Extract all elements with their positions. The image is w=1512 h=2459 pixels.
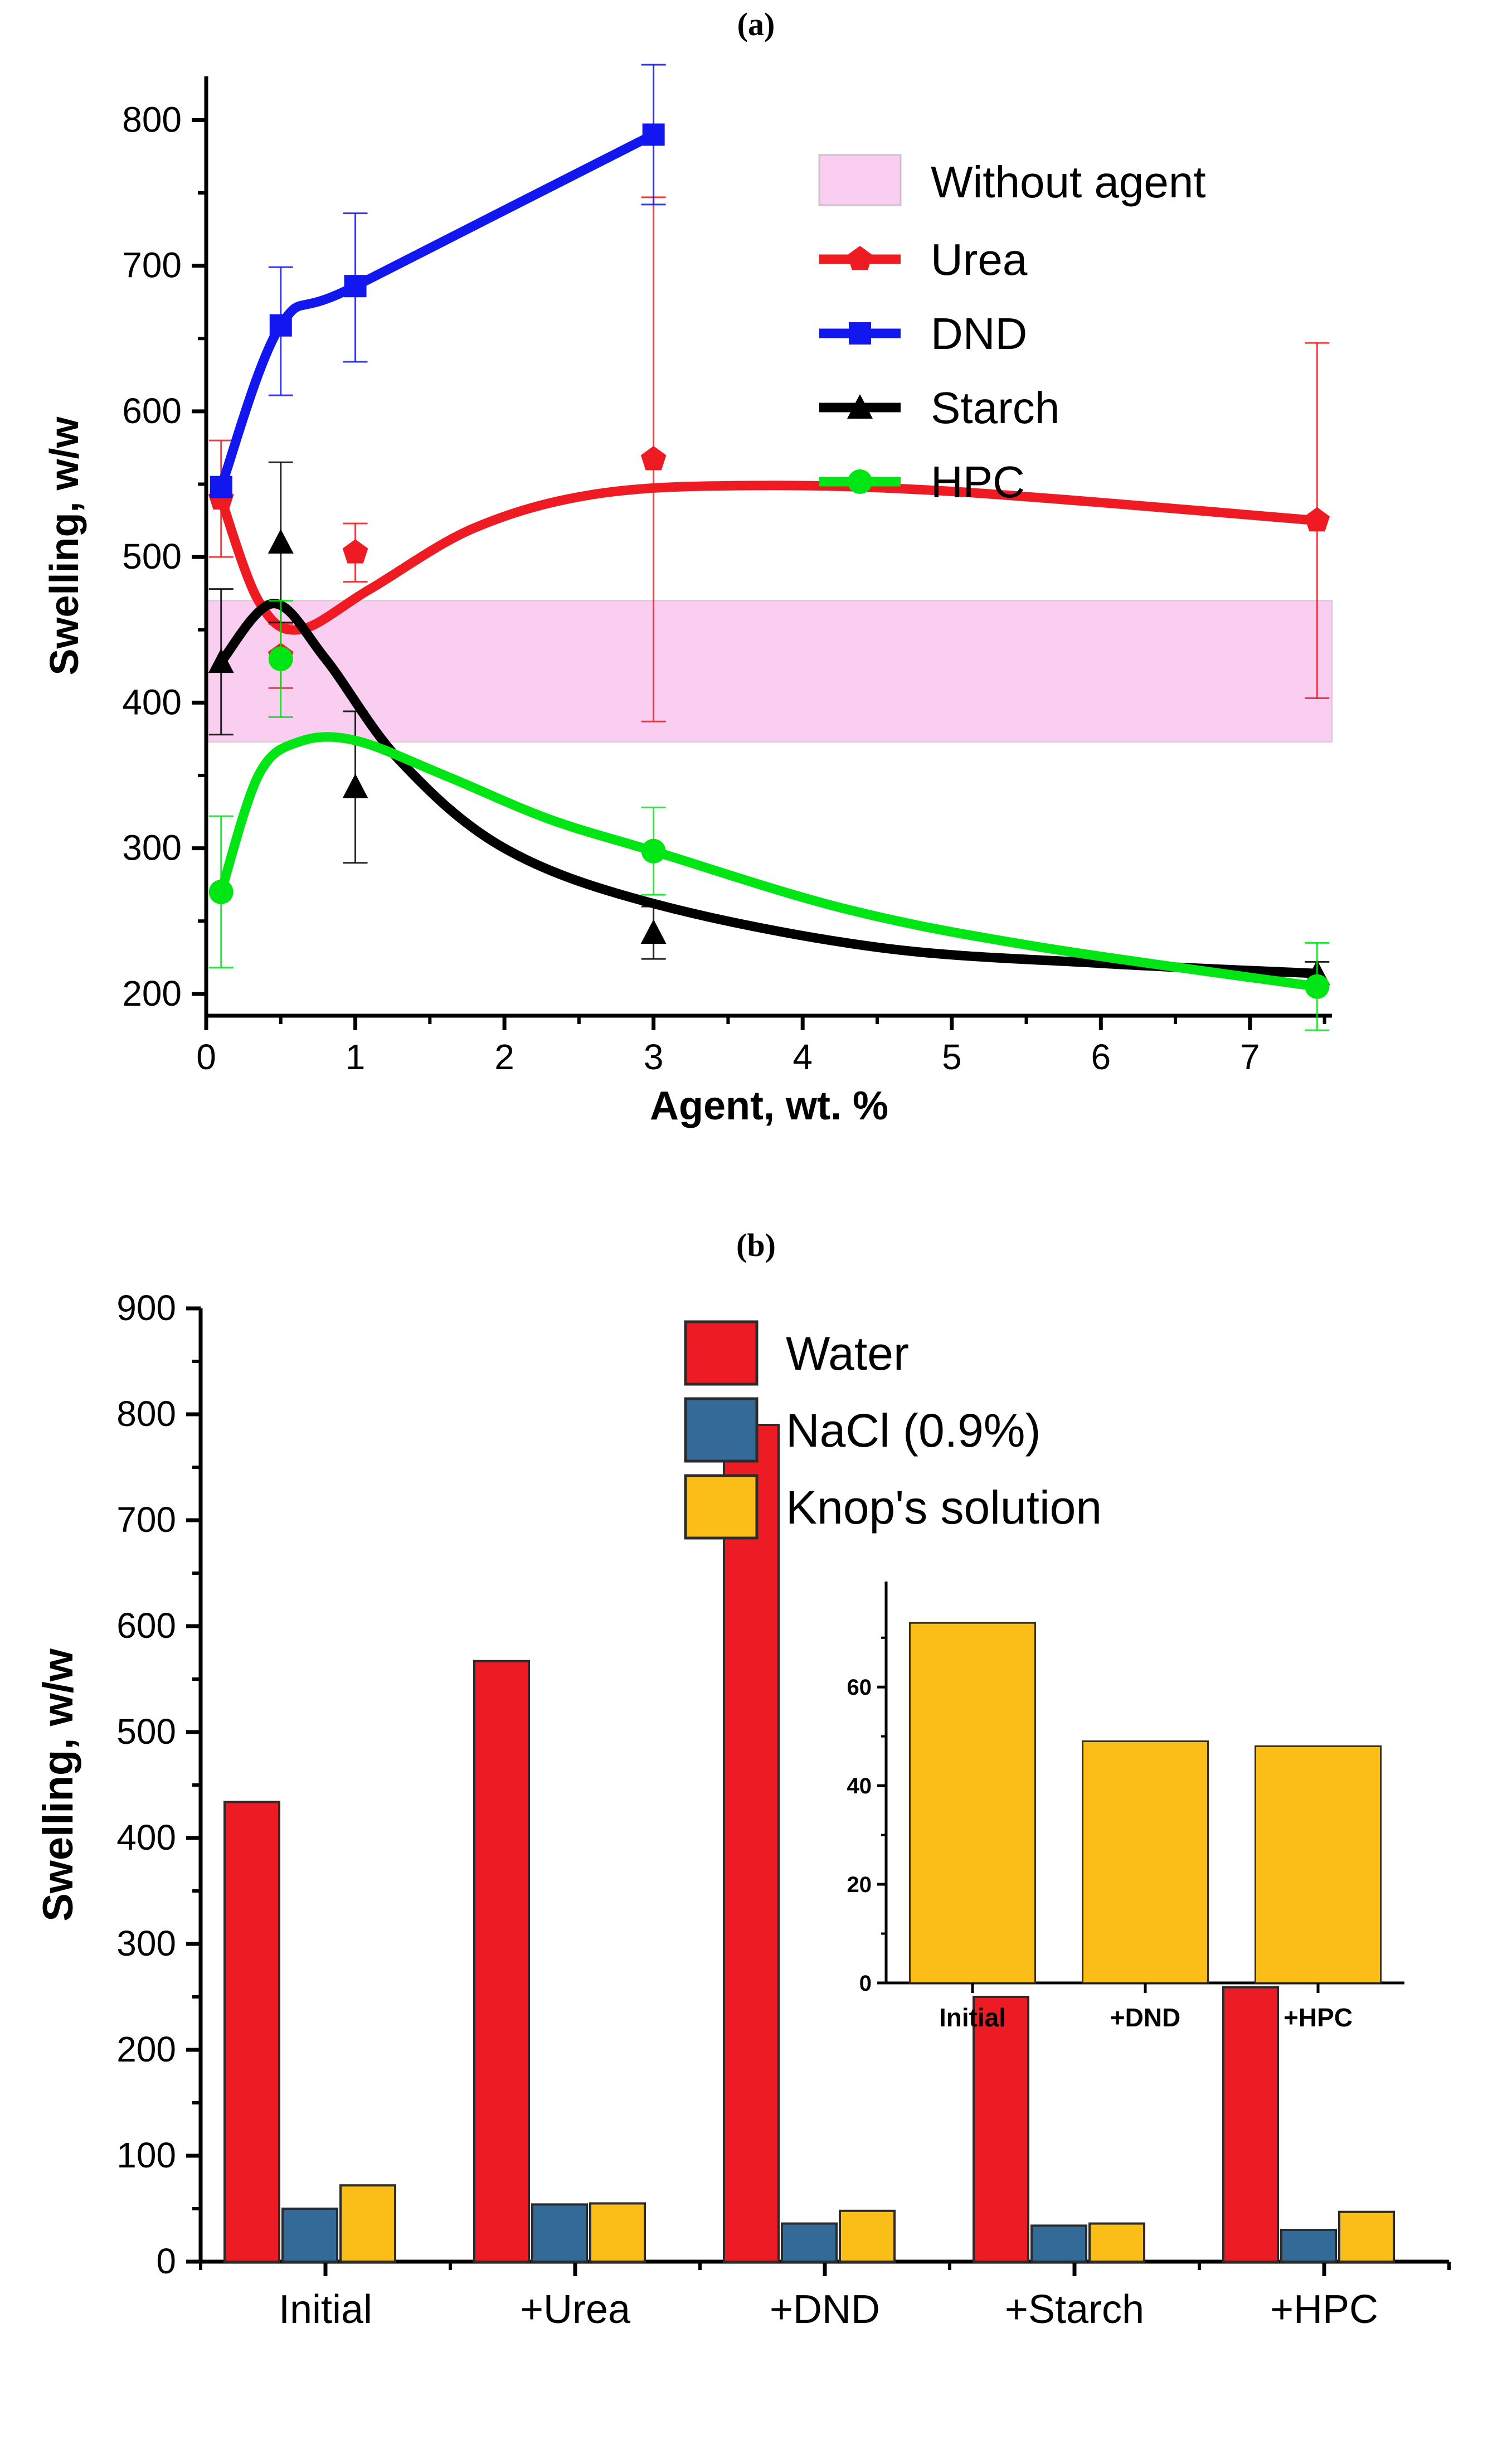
y-tick-label: 400 [122,682,182,722]
bar-plus-dnd-water [724,1425,779,2262]
bar-plus-dnd-nacl [782,2224,837,2262]
bar-plus-dnd-knopssolution [840,2211,894,2262]
legend-label-nacl: NaCl (0.9%) [786,1404,1041,1457]
without-agent-band [206,600,1332,741]
x-tick-label: 4 [793,1037,813,1077]
x-tick-label: +Urea [520,2287,631,2332]
y-tick-label: 300 [116,1923,176,1963]
datapoint-hpc [641,839,666,864]
bar-plus-urea-water [474,1661,529,2262]
panel-b: (b) 0100200300400500600700800900Swelling… [0,1215,1512,2459]
y-tick-label: 200 [116,2029,176,2069]
bar-initial-water [225,1802,279,2262]
legend-label-without-agent: Without agent [931,157,1206,207]
swelling-vs-agent-chart: 20030040050060070080001234567Agent, wt. … [0,43,1512,1191]
datapoint-hpc [209,880,234,904]
inset-x-tick-label: +DND [1110,2003,1181,2032]
legend-marker-urea [847,246,873,270]
y-tick-label: 400 [116,1817,176,1857]
x-tick-label: 1 [346,1037,366,1077]
datapoint-dnd [270,314,292,337]
panel-a-label: (a) [0,0,1512,43]
y-tick-label: 700 [116,1500,176,1540]
inset-y-tick-label: 60 [847,1675,872,1700]
legend-a: Without agentUreaDNDStarchHPC [819,155,1206,507]
chart-a-svg: 20030040050060070080001234567Agent, wt. … [0,43,1512,1191]
datapoint-starch [268,529,294,554]
x-tick-label: Initial [279,2287,372,2332]
bar-plus-starch-water [974,1997,1028,2262]
y-tick-label: 900 [116,1288,176,1328]
curve-hpc [221,737,1317,987]
inset-x-tick-label: +HPC [1284,2003,1353,2032]
chart-b-svg: 0100200300400500600700800900Swelling, w/… [0,1264,1512,2446]
inset-y-tick-label: 20 [847,1873,872,1897]
bar-plus-hpc-water [1223,1987,1278,2262]
inset-x-tick-label: Initial [939,2003,1006,2032]
y-tick-label: 500 [122,536,182,576]
legend-swatch-without-agent [819,155,901,205]
y-tick-label: 0 [156,2241,176,2281]
y-tick-label: 600 [122,391,182,431]
datapoint-urea [343,539,368,563]
y-tick-label: 800 [122,99,182,139]
datapoint-starch [343,774,368,798]
datapoint-hpc [269,647,293,671]
y-tick-label: 700 [122,245,182,285]
bar-plus-hpc-knopssolution [1339,2212,1394,2262]
series-dnd [210,65,666,498]
legend-swatch-nacl [685,1399,757,1461]
legend-marker-dnd [849,322,871,345]
bar-plus-urea-knopssolution [590,2204,645,2262]
x-tick-label: 3 [644,1037,664,1077]
x-tick-label: 6 [1091,1037,1111,1077]
y-tick-label: 500 [116,1711,176,1752]
legend-label-hpc: HPC [931,457,1025,507]
swelling-by-medium-chart: 0100200300400500600700800900Swelling, w/… [0,1264,1512,2446]
bar-initial-nacl [283,2209,337,2262]
inset-bar-plus-hpc [1256,1746,1381,1983]
x-tick-label: 7 [1240,1037,1260,1077]
legend-label-urea: Urea [931,235,1028,284]
x-axis-title: Agent, wt. % [650,1084,888,1128]
bar-plus-hpc-nacl [1281,2230,1336,2262]
datapoint-dnd [210,476,232,498]
bar-plus-urea-nacl [532,2204,587,2262]
y-tick-label: 800 [116,1394,176,1434]
bar-plus-starch-knopssolution [1090,2224,1144,2262]
curve-dnd [221,134,654,487]
x-tick-label: +HPC [1270,2287,1378,2332]
bar-initial-knopssolution [341,2185,395,2262]
legend-label-knopssolution: Knop's solution [786,1481,1102,1534]
datapoint-hpc [1305,974,1329,999]
panel-b-label: (b) [0,1215,1512,1264]
bars-b [225,1425,1394,2262]
inset-bar-initial [910,1623,1035,1983]
inset-chart: 0204060Initial+DND+HPC [847,1582,1405,2032]
datapoint-dnd [344,275,367,297]
datapoint-starch [641,919,667,944]
legend-label-water: Water [786,1327,909,1380]
datapoint-urea [1304,507,1330,531]
band-rect [206,600,1332,741]
legend-marker-hpc [848,469,872,494]
x-tick-label: +Starch [1005,2287,1144,2332]
x-tick-label: +DND [770,2287,880,2332]
legend-swatch-knopssolution [685,1476,757,1538]
x-tick-label: 2 [494,1037,514,1077]
x-tick-label: 0 [196,1037,216,1077]
inset-bar-plus-dnd [1083,1742,1208,1983]
legend-b: WaterNaCl (0.9%)Knop's solution [685,1322,1102,1538]
y-tick-label: 100 [116,2135,176,2175]
inset-y-tick-label: 40 [847,1774,872,1798]
datapoint-dnd [643,123,665,145]
datapoint-urea [641,446,667,470]
legend-label-dnd: DND [931,309,1027,358]
y-axis-title: Swelling, w/w [35,1648,82,1922]
x-tick-label: 5 [942,1037,962,1077]
y-axis-title: Swelling, w/w [42,416,87,675]
y-tick-label: 600 [116,1606,176,1646]
y-tick-label: 300 [122,828,182,868]
y-tick-label: 200 [122,973,182,1013]
bar-plus-starch-nacl [1032,2225,1086,2262]
legend-label-starch: Starch [931,383,1059,433]
inset-y-tick-label: 0 [859,1971,872,1996]
legend-swatch-water [685,1322,757,1384]
panel-a: (a) 20030040050060070080001234567Agent, … [0,0,1512,1215]
